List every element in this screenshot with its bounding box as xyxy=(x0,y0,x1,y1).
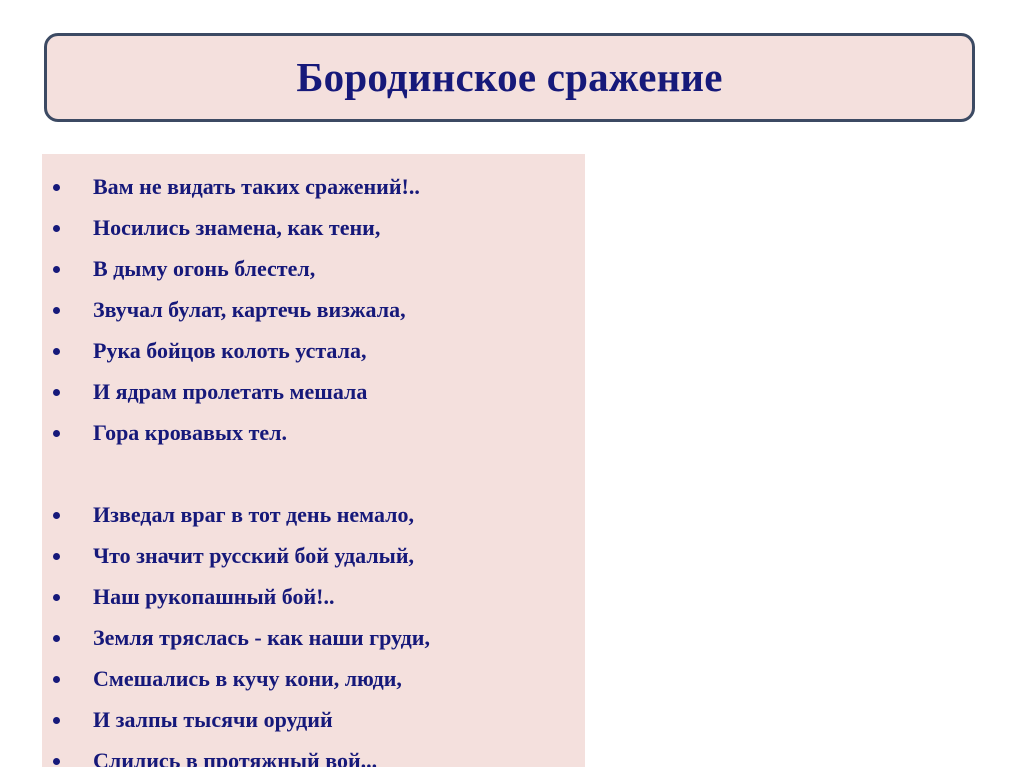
list-item: Гора кровавых тел. xyxy=(42,412,585,453)
list-item-label: В дыму огонь блестел, xyxy=(93,256,315,281)
list-item-label: Смешались в кучу кони, люди, xyxy=(93,666,402,691)
slide-content-panel: Вам не видать таких сражений!..Носились … xyxy=(42,154,585,767)
list-item: И ядрам пролетать мешала xyxy=(42,371,585,412)
bullet-dot-icon xyxy=(53,307,60,314)
bullet-dot-icon xyxy=(53,348,60,355)
list-item: И залпы тысячи орудий xyxy=(42,699,585,740)
bullet-dot-icon xyxy=(53,512,60,519)
bullet-dot-icon xyxy=(53,225,60,232)
bullet-dot-icon xyxy=(53,635,60,642)
list-item-label: Гора кровавых тел. xyxy=(93,420,287,445)
bullet-dot-icon xyxy=(53,266,60,273)
list-item-label: Рука бойцов колоть устала, xyxy=(93,338,366,363)
list-item-label: И ядрам пролетать мешала xyxy=(93,379,367,404)
list-item: Слились в протяжный вой... xyxy=(42,740,585,767)
bullet-dot-icon xyxy=(53,758,60,765)
list-item-label: Наш рукопашный бой!.. xyxy=(93,584,335,609)
list-item-label: Слились в протяжный вой... xyxy=(93,748,377,767)
list-item: Смешались в кучу кони, люди, xyxy=(42,658,585,699)
slide-title-box: Бородинское сражение xyxy=(44,33,975,122)
list-item: Земля тряслась - как наши груди, xyxy=(42,617,585,658)
bullet-dot-icon xyxy=(53,553,60,560)
bullet-dot-icon xyxy=(53,717,60,724)
list-item-label: Звучал булат, картечь визжала, xyxy=(93,297,406,322)
list-item-label: Изведал враг в тот день немало, xyxy=(93,502,414,527)
bullet-dot-icon xyxy=(53,430,60,437)
list-item: Звучал булат, картечь визжала, xyxy=(42,289,585,330)
list-spacer xyxy=(42,453,585,494)
list-item-label: Носились знамена, как тени, xyxy=(93,215,380,240)
bullet-dot-icon xyxy=(53,184,60,191)
list-item: Носились знамена, как тени, xyxy=(42,207,585,248)
list-item: Что значит русский бой удалый, xyxy=(42,535,585,576)
list-item: Вам не видать таких сражений!.. xyxy=(42,166,585,207)
list-item-label: Что значит русский бой удалый, xyxy=(93,543,414,568)
poem-bullet-list: Вам не видать таких сражений!..Носились … xyxy=(42,166,585,767)
list-item: Наш рукопашный бой!.. xyxy=(42,576,585,617)
list-item: Рука бойцов колоть устала, xyxy=(42,330,585,371)
list-item: Изведал враг в тот день немало, xyxy=(42,494,585,535)
list-item-label: Вам не видать таких сражений!.. xyxy=(93,174,420,199)
list-item: В дыму огонь блестел, xyxy=(42,248,585,289)
bullet-dot-icon xyxy=(53,676,60,683)
list-item-label: И залпы тысячи орудий xyxy=(93,707,333,732)
page-title: Бородинское сражение xyxy=(296,57,722,98)
list-item-label: Земля тряслась - как наши груди, xyxy=(93,625,430,650)
presentation-slide: Бородинское сражение Вам не видать таких… xyxy=(0,0,1024,767)
bullet-dot-icon xyxy=(53,594,60,601)
bullet-dot-icon xyxy=(53,389,60,396)
